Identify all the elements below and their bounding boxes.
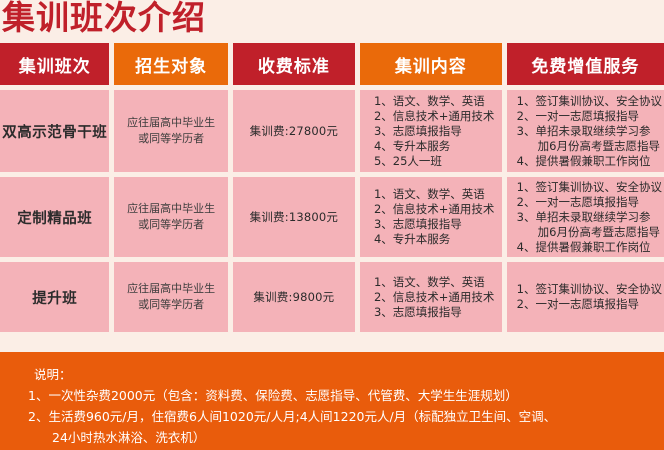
list-item: 4、专升本服务 [374,139,498,154]
audience-line: 或同等学历者 [120,217,221,233]
list-item: 4、专升本服务 [374,232,498,247]
page-title: 集训班次介绍 [2,0,206,40]
promo-poster: 集训班次介绍 集训班次 招生对象 收费标准 集训内容 免费增值服务 双高示范骨干… [0,0,664,450]
cell-audience: 应往届高中毕业生 或同等学历者 [114,90,227,172]
table-header-content: 集训内容 [360,43,502,85]
list-item: 2、一对一志愿填报指导 [517,195,662,210]
content-list: 1、语文、数学、英语 2、信息技术+通用技术 3、志愿填报指导 4、专升本服务 … [360,94,502,169]
footnote-line: 2、生活费960元/月，住宿费6人间1020元/人月;4人间1220元人/月（标… [28,406,664,427]
cell-fee: 集训费:27800元 [233,90,355,172]
cell-content: 1、语文、数学、英语 2、信息技术+通用技术 3、志愿填报指导 [360,262,502,332]
table-header-fee: 收费标准 [233,43,355,85]
audience-line: 或同等学历者 [120,131,221,147]
fee-text: 集训费:9800元 [233,289,355,305]
list-item-continuation: 加6月份高考暨志愿指导 [517,225,662,240]
cell-class-name: 定制精品班 [0,177,109,257]
class-name-label: 双高示范骨干班 [0,121,109,142]
fee-text: 集训费:27800元 [233,123,355,139]
list-item: 1、语文、数学、英语 [374,94,498,109]
class-name-label: 定制精品班 [0,207,109,228]
table-header-audience: 招生对象 [114,43,227,85]
footnote-panel: 说明： 1、一次性杂费2000元（包含：资料费、保险费、志愿指导、代管费、大学生… [0,352,664,450]
table-row: 提升班 应往届高中毕业生 或同等学历者 集训费:9800元 1、语文、数学、英语… [0,262,664,332]
content-list: 1、语文、数学、英语 2、信息技术+通用技术 3、志愿填报指导 [360,275,502,320]
cell-services: 1、签订集训协议、安全协议 2、一对一志愿填报指导 [507,262,664,332]
table-header-row: 集训班次 招生对象 收费标准 集训内容 免费增值服务 [0,43,664,85]
list-item: 2、信息技术+通用技术 [374,290,498,305]
footnote-label: 说明： [34,364,664,385]
cell-class-name: 双高示范骨干班 [0,90,109,172]
list-item: 4、提供暑假兼职工作岗位 [517,240,662,255]
class-comparison-table: 集训班次 招生对象 收费标准 集训内容 免费增值服务 双高示范骨干班 应往届高中… [0,43,664,337]
list-item: 2、信息技术+通用技术 [374,202,498,217]
list-item: 1、签订集训协议、安全协议 [517,282,662,297]
audience-text: 应往届高中毕业生 或同等学历者 [114,281,227,313]
list-item: 1、签订集训协议、安全协议 [517,94,662,109]
audience-line: 应往届高中毕业生 [120,201,221,217]
list-item: 5、25人一班 [374,154,498,169]
list-item: 1、语文、数学、英语 [374,187,498,202]
list-item: 3、志愿填报指导 [374,217,498,232]
services-list: 1、签订集训协议、安全协议 2、一对一志愿填报指导 3、单招未录取继续学习参 加… [507,180,664,255]
cell-services: 1、签订集训协议、安全协议 2、一对一志愿填报指导 3、单招未录取继续学习参 加… [507,177,664,257]
list-item: 3、志愿填报指导 [374,305,498,320]
list-item: 1、签订集训协议、安全协议 [517,180,662,195]
audience-text: 应往届高中毕业生 或同等学历者 [114,201,227,233]
table-header-class-type: 集训班次 [0,43,109,85]
cell-audience: 应往届高中毕业生 或同等学历者 [114,262,227,332]
content-list: 1、语文、数学、英语 2、信息技术+通用技术 3、志愿填报指导 4、专升本服务 [360,187,502,247]
list-item: 3、志愿填报指导 [374,124,498,139]
table-row: 定制精品班 应往届高中毕业生 或同等学历者 集训费:13800元 1、语文、数学… [0,177,664,257]
audience-line: 应往届高中毕业生 [120,281,221,297]
list-item: 2、信息技术+通用技术 [374,109,498,124]
list-item: 4、提供暑假兼职工作岗位 [517,154,662,169]
cell-fee: 集训费:9800元 [233,262,355,332]
audience-line: 或同等学历者 [120,297,221,313]
list-item: 3、单招未录取继续学习参 [517,210,662,225]
list-item: 2、一对一志愿填报指导 [517,109,662,124]
cell-fee: 集训费:13800元 [233,177,355,257]
footnote-line-continuation: 24小时热水淋浴、洗衣机） [28,427,664,448]
audience-line: 应往届高中毕业生 [120,115,221,131]
services-list: 1、签订集训协议、安全协议 2、一对一志愿填报指导 [507,282,664,312]
footnote-line: 1、一次性杂费2000元（包含：资料费、保险费、志愿指导、代管费、大学生生涯规划… [28,385,664,406]
list-item: 1、语文、数学、英语 [374,275,498,290]
table-row: 双高示范骨干班 应往届高中毕业生 或同等学历者 集训费:27800元 1、语文、… [0,90,664,172]
list-item-continuation: 加6月份高考暨志愿指导 [517,139,662,154]
table-header-services: 免费增值服务 [507,43,664,85]
cell-content: 1、语文、数学、英语 2、信息技术+通用技术 3、志愿填报指导 4、专升本服务 [360,177,502,257]
list-item: 2、一对一志愿填报指导 [517,297,662,312]
cell-audience: 应往届高中毕业生 或同等学历者 [114,177,227,257]
fee-text: 集训费:13800元 [233,209,355,225]
cell-class-name: 提升班 [0,262,109,332]
services-list: 1、签订集训协议、安全协议 2、一对一志愿填报指导 3、单招未录取继续学习参 加… [507,94,664,169]
cell-content: 1、语文、数学、英语 2、信息技术+通用技术 3、志愿填报指导 4、专升本服务 … [360,90,502,172]
cell-services: 1、签订集训协议、安全协议 2、一对一志愿填报指导 3、单招未录取继续学习参 加… [507,90,664,172]
audience-text: 应往届高中毕业生 或同等学历者 [114,115,227,147]
list-item: 3、单招未录取继续学习参 [517,124,662,139]
class-name-label: 提升班 [0,287,109,308]
